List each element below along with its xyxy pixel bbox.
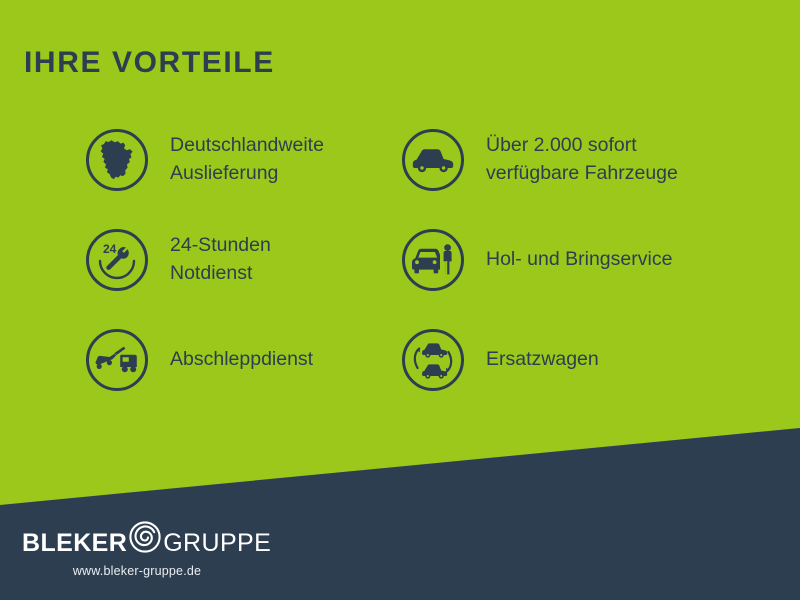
page-title: IHRE VORTEILE — [24, 48, 275, 78]
benefit-label: Abschleppdienst — [170, 346, 313, 374]
spiral-swirl-icon — [128, 520, 162, 559]
benefit-label: Über 2.000 sofort verfügbare Fahrzeuge — [486, 132, 678, 187]
benefits-column-right: Über 2.000 sofort verfügbare Fahrzeuge — [402, 110, 742, 410]
benefit-label: Deutschlandweite Auslieferung — [170, 132, 324, 187]
benefit-item-hol-und-bringservice[interactable]: Hol- und Bringservice — [402, 210, 742, 310]
benefit-label: 24-Stunden Notdienst — [170, 232, 271, 287]
benefit-item-verfuegbare-fahrzeuge[interactable]: Über 2.000 sofort verfügbare Fahrzeuge — [402, 110, 742, 210]
logo-wordmark-row: BLEKER GRUPPE — [22, 526, 242, 560]
logo-primary-text: BLEKER — [22, 531, 127, 556]
benefit-item-ersatzwagen[interactable]: Ersatzwagen — [402, 310, 742, 410]
germany-map-icon — [86, 129, 148, 191]
logo-secondary-text: GRUPPE — [163, 531, 271, 556]
benefits-column-left: Deutschlandweite Auslieferung 24 24-Stun… — [86, 110, 396, 410]
footer-logo[interactable]: BLEKER GRUPPE www.bleker-gruppe.de — [22, 526, 242, 578]
car-with-person-icon — [402, 229, 464, 291]
svg-text:24: 24 — [103, 242, 117, 256]
benefit-label: Hol- und Bringservice — [486, 246, 672, 274]
slide-canvas: IHRE VORTEILE Deutschlandweite Ausliefer… — [0, 0, 800, 600]
car-icon — [402, 129, 464, 191]
replacement-car-icon — [402, 329, 464, 391]
benefit-item-deutschlandweite-auslieferung[interactable]: Deutschlandweite Auslieferung — [86, 110, 396, 210]
tow-truck-icon — [86, 329, 148, 391]
benefit-item-24-stunden-notdienst[interactable]: 24 24-Stunden Notdienst — [86, 210, 396, 310]
benefit-label: Ersatzwagen — [486, 346, 599, 374]
benefit-item-abschleppdienst[interactable]: Abschleppdienst — [86, 310, 396, 410]
24-hour-wrench-icon: 24 — [86, 229, 148, 291]
website-url[interactable]: www.bleker-gruppe.de — [22, 564, 242, 578]
